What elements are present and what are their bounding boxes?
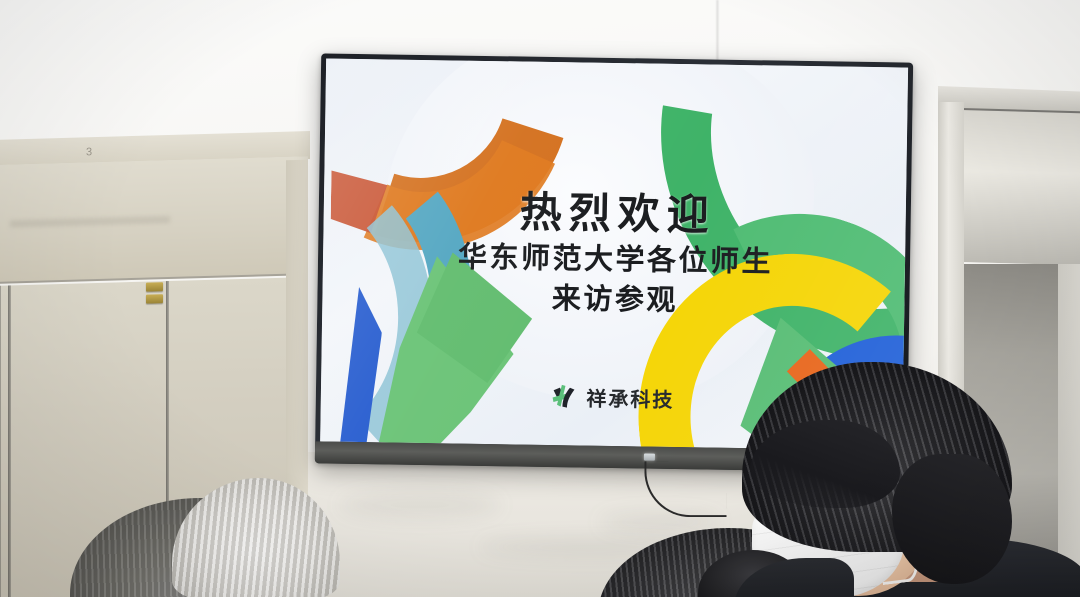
- door-header-panel: [962, 108, 1080, 266]
- cabinet-lock[interactable]: [146, 282, 163, 291]
- cabinet-divider: [0, 286, 1, 597]
- wall-smudge: [340, 492, 500, 518]
- cabinet-header-panel: 3: [0, 156, 308, 284]
- cabinet-lock[interactable]: [146, 294, 163, 303]
- tv-power-led-icon: [643, 453, 654, 460]
- standing-person-masked: [742, 362, 1080, 597]
- company-logo-icon: [549, 382, 578, 411]
- person-bangs: [750, 420, 900, 508]
- photo-scene: 3: [0, 0, 1080, 597]
- slide-subtitle-line2: 来访参观: [552, 283, 679, 318]
- slide-subtitle-line1: 华东师范大学各位师生: [458, 242, 774, 280]
- cabinet-label-number: 3: [86, 146, 92, 158]
- slide-title: 热烈欢迎: [519, 191, 716, 238]
- company-logo-text: 祥承科技: [586, 383, 674, 413]
- cabinet-streak: [10, 216, 170, 227]
- cabinet-divider: [8, 285, 11, 597]
